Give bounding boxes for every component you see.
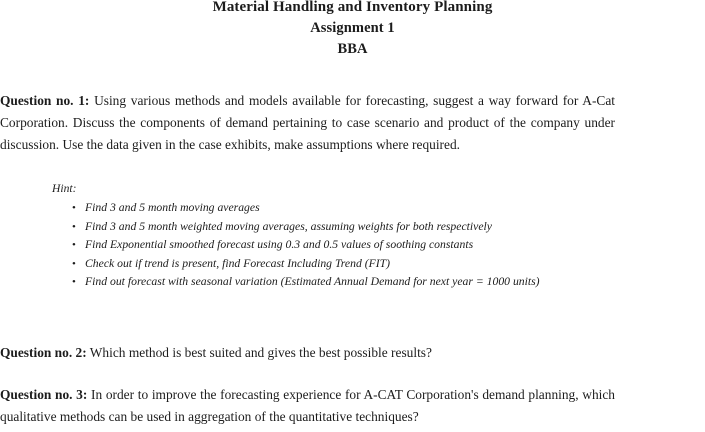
question-1-paragraph: Question no. 1: Using various methods an… (0, 90, 615, 156)
bullet-icon: • (72, 199, 76, 218)
hint-item-text: Find 3 and 5 month weighted moving avera… (85, 220, 492, 233)
hint-label: Hint: (52, 181, 76, 196)
question-2-label: Question no. 2: (0, 345, 87, 360)
bullet-icon: • (72, 273, 76, 292)
question-3-paragraph: Question no. 3: In order to improve the … (0, 384, 615, 428)
question-3-text: In order to improve the forecasting expe… (0, 387, 615, 424)
question-1-text: Using various methods and models availab… (0, 93, 615, 152)
question-2-paragraph: Question no. 2: Which method is best sui… (0, 342, 615, 364)
document-heading: Material Handling and Inventory Planning… (0, 0, 705, 60)
bullet-icon: • (72, 218, 76, 237)
program-name: BBA (0, 39, 705, 60)
list-item: •Check out if trend is present, find For… (68, 255, 668, 274)
hint-item-text: Check out if trend is present, find Fore… (85, 257, 390, 270)
question-1-label: Question no. 1: (0, 93, 89, 108)
page-title: Material Handling and Inventory Planning (0, 0, 705, 18)
hint-list: •Find 3 and 5 month moving averages •Fin… (68, 199, 668, 292)
hint-item-text: Find out forecast with seasonal variatio… (85, 275, 540, 288)
document-page: Material Handling and Inventory Planning… (0, 0, 705, 432)
list-item: •Find 3 and 5 month weighted moving aver… (68, 218, 668, 237)
list-item: •Find 3 and 5 month moving averages (68, 199, 668, 218)
question-3-label: Question no. 3: (0, 387, 87, 402)
hint-item-text: Find 3 and 5 month moving averages (85, 201, 260, 214)
question-2-text: Which method is best suited and gives th… (87, 345, 432, 360)
assignment-subtitle: Assignment 1 (0, 18, 705, 39)
bullet-icon: • (72, 236, 76, 255)
bullet-icon: • (72, 255, 76, 274)
list-item: •Find out forecast with seasonal variati… (68, 273, 668, 292)
hint-item-text: Find Exponential smoothed forecast using… (85, 238, 473, 251)
list-item: •Find Exponential smoothed forecast usin… (68, 236, 668, 255)
